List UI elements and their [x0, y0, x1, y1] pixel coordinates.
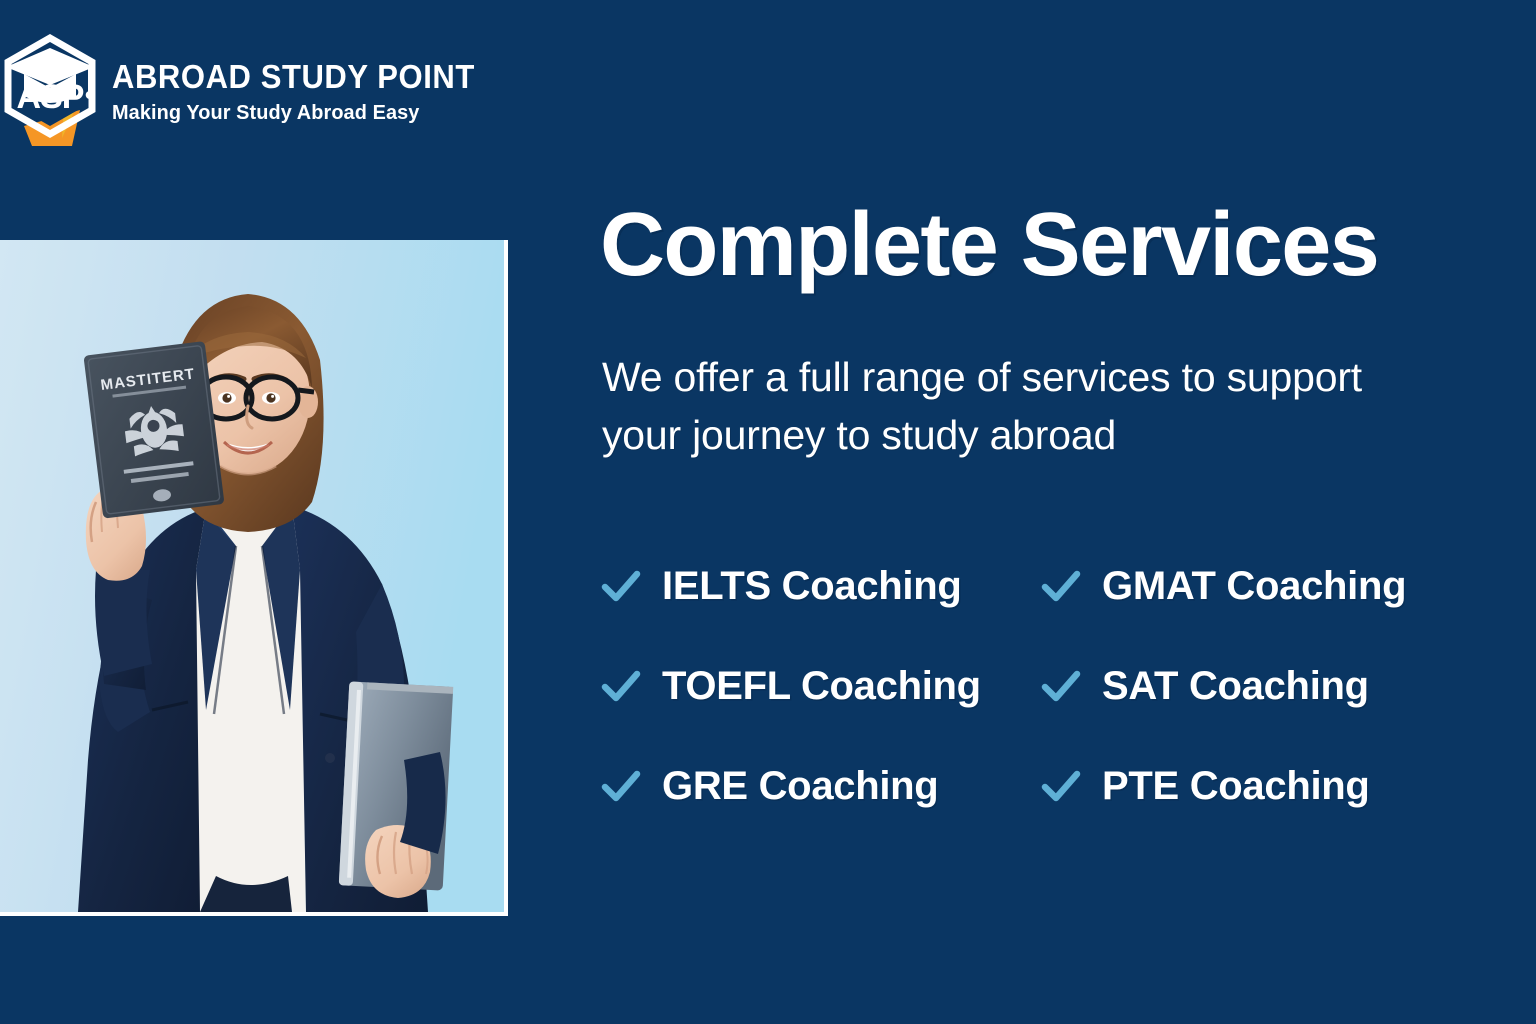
check-icon	[1040, 665, 1082, 707]
service-item-sat[interactable]: SAT Coaching	[1040, 636, 1480, 736]
services-list: IELTS Coaching GMAT Coaching TOEFL Coach…	[600, 536, 1500, 836]
asp-logo-icon[interactable]: ASP	[2, 34, 98, 146]
woman-with-passport-illustration: MASTITERT	[0, 240, 504, 912]
svg-text:ASP: ASP	[17, 78, 84, 116]
logo-letters: ASP	[17, 78, 84, 116]
service-label: IELTS Coaching	[662, 564, 962, 609]
check-icon	[600, 665, 642, 707]
check-icon	[1040, 565, 1082, 607]
brand-text-block: ABROAD STUDY POINT Making Your Study Abr…	[112, 56, 498, 124]
service-item-gmat[interactable]: GMAT Coaching	[1040, 536, 1480, 636]
brand-name: ABROAD STUDY POINT	[112, 60, 475, 95]
service-item-toefl[interactable]: TOEFL Coaching	[600, 636, 1040, 736]
service-label: TOEFL Coaching	[662, 664, 981, 709]
service-item-pte[interactable]: PTE Coaching	[1040, 736, 1480, 836]
service-label: GMAT Coaching	[1102, 564, 1406, 609]
service-item-gre[interactable]: GRE Coaching	[600, 736, 1040, 836]
service-item-ielts[interactable]: IELTS Coaching	[600, 536, 1040, 636]
service-label: GRE Coaching	[662, 764, 938, 809]
hero-photo-frame: MASTITERT	[0, 240, 508, 916]
service-label: PTE Coaching	[1102, 764, 1370, 809]
content-column: Complete Services We offer a full range …	[600, 200, 1500, 836]
poster-canvas: ASP ABROAD STUDY POINT Making Your Study…	[0, 0, 1536, 1024]
page-title: Complete Services	[600, 200, 1500, 290]
hero-photo: MASTITERT	[0, 240, 504, 912]
brand-header[interactable]: ASP ABROAD STUDY POINT Making Your Study…	[0, 30, 430, 150]
service-label: SAT Coaching	[1102, 664, 1369, 709]
brand-tagline: Making Your Study Abroad Easy	[112, 102, 486, 125]
page-subtitle: We offer a full range of services to sup…	[602, 348, 1442, 464]
passport-booklet: MASTITERT	[83, 341, 224, 519]
check-icon	[600, 565, 642, 607]
check-icon	[600, 765, 642, 807]
check-icon	[1040, 765, 1082, 807]
